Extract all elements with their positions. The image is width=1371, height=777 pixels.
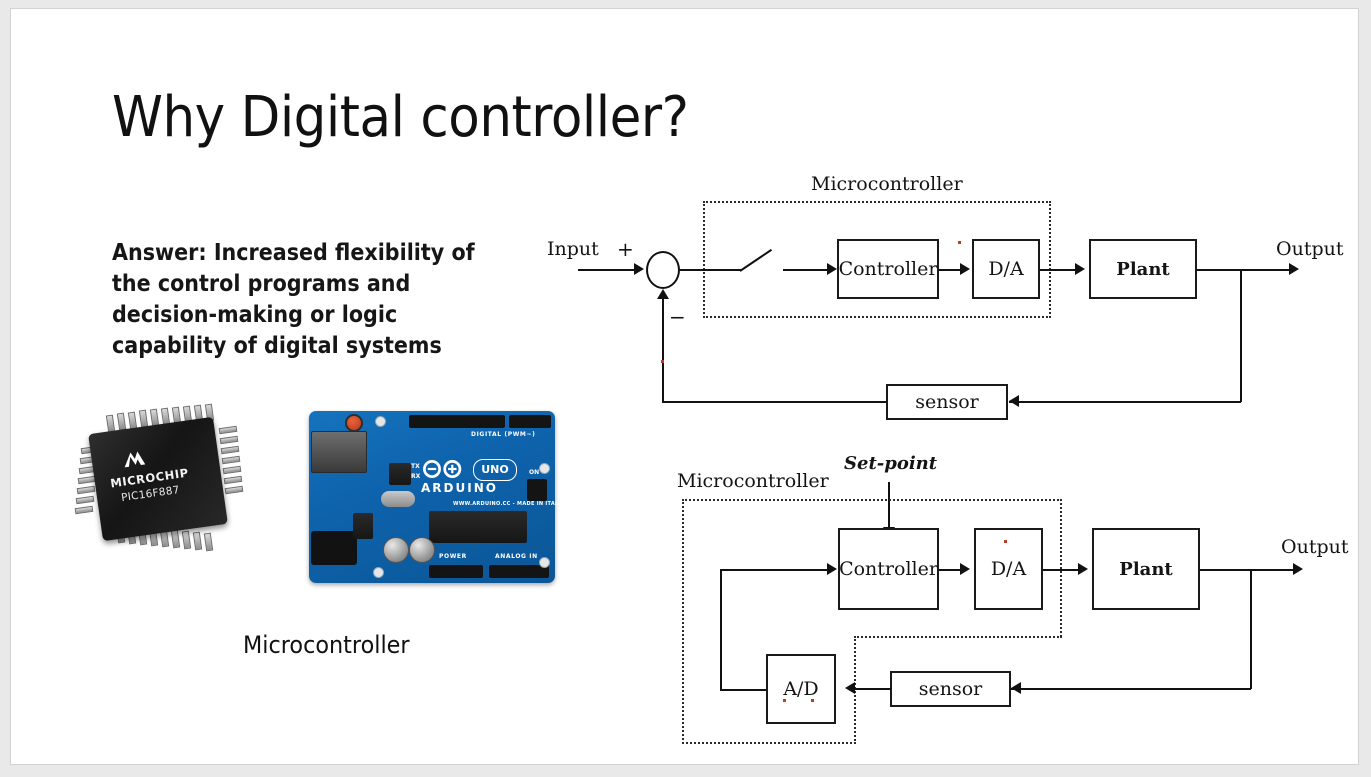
artifact-mark-bottom-3 (1004, 540, 1007, 543)
da-block-bottom: D/A (974, 528, 1043, 610)
controller-block-label-bottom: Controller (839, 558, 938, 580)
da-block-label-bottom: D/A (991, 558, 1026, 580)
artifact-mark-bottom-1 (783, 699, 786, 702)
ad-to-controller-wire-h-bottom (720, 689, 766, 691)
mc-boundary-bottom-left-edge (682, 499, 684, 744)
slide-canvas: Why Digital controller? Answer: Increase… (10, 8, 1359, 765)
setpoint-wire (888, 482, 890, 528)
sensor-input-arrow-bottom (1011, 682, 1021, 694)
da-to-plant-wire-bottom (1043, 569, 1079, 571)
plant-block-bottom: Plant (1092, 528, 1200, 610)
setpoint-label: Set-point (844, 453, 937, 474)
feedback-return-wire-bottom (1011, 688, 1251, 690)
mc-boundary-bottom-step-edge (854, 636, 1062, 638)
sensor-to-ad-wire-bottom (855, 688, 891, 690)
controller-input-wire-bottom (720, 569, 828, 571)
output-label-bottom: Output (1281, 536, 1348, 558)
plant-to-output-wire-bottom (1200, 569, 1295, 571)
slide-frame: Why Digital controller? Answer: Increase… (0, 0, 1371, 777)
ad-block-label-bottom: A/D (783, 678, 818, 700)
controller-block-bottom: Controller (838, 528, 939, 610)
ad-to-controller-wire-v-bottom (720, 569, 722, 690)
controller-to-da-wire-bottom (939, 569, 961, 571)
output-tap-wire-bottom (1250, 569, 1252, 689)
diagram-bottom-caption: Microcontroller (677, 470, 829, 492)
controller-input-arrow-bottom (827, 563, 837, 575)
ad-block-bottom: A/D (766, 654, 836, 724)
sensor-block-bottom: sensor (890, 671, 1011, 707)
mc-boundary-bottom-bottom-edge (682, 742, 856, 744)
da-input-arrow-bottom (960, 563, 970, 575)
mc-boundary-bottom-right-upper-edge (1060, 499, 1062, 637)
sensor-block-label-bottom: sensor (919, 678, 983, 700)
output-arrow-bottom (1293, 563, 1303, 575)
ad-input-arrow-bottom (845, 682, 855, 694)
mc-boundary-bottom-top-edge (682, 499, 1062, 501)
artifact-mark-bottom-2 (811, 699, 814, 702)
digital-control-loop-diagram-bottom: Microcontroller Set-point Controller (11, 9, 1359, 765)
plant-input-arrow-bottom (1078, 563, 1088, 575)
plant-block-label-bottom: Plant (1119, 559, 1172, 580)
